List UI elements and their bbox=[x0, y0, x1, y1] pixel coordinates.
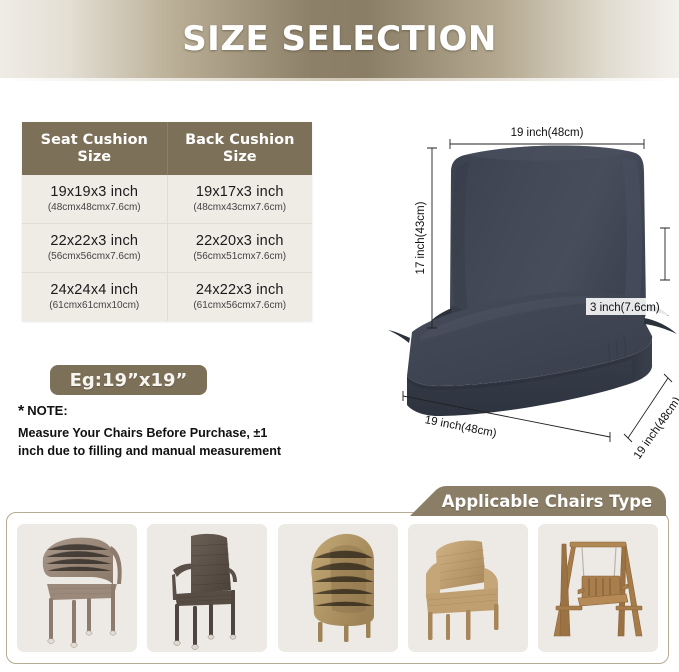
seat-size-inches: 22x22x3 inch bbox=[26, 233, 163, 249]
seat-size-inches: 24x24x4 inch bbox=[26, 282, 163, 298]
applicable-chairs-banner: Applicable Chairs Type bbox=[410, 486, 666, 516]
chair-glyph bbox=[311, 534, 374, 642]
column-header-seat-cushion-size: Seat Cushion Size bbox=[22, 122, 167, 175]
seat-size-cm: (61cmx61cmx10cm) bbox=[26, 300, 163, 311]
asterisk-icon: * bbox=[18, 403, 24, 420]
page-title: SIZE SELECTION bbox=[182, 19, 497, 59]
seat-size-cell: 22x22x3 inch (56cmx56cmx7.6cm) bbox=[22, 224, 167, 273]
seat-width-label: 19 inch(48cm) bbox=[424, 414, 498, 440]
back-width-label: 19 inch(48cm) bbox=[511, 127, 584, 139]
cushion-dimension-diagram: 19 inch(48cm) 17 inch(43cm) 3 inch(7.6cm… bbox=[260, 100, 679, 480]
chair-glyph bbox=[43, 538, 122, 648]
page-header: SIZE SELECTION bbox=[0, 0, 679, 78]
header-divider bbox=[0, 78, 679, 81]
seat-size-cell: 24x24x4 inch (61cmx61cmx10cm) bbox=[22, 273, 167, 322]
chair-thumbnail-stackable-round-back-rattan-chair[interactable] bbox=[17, 524, 137, 652]
thickness-label: 3 inch(7.6cm) bbox=[590, 302, 660, 314]
note-heading-label: NOTE: bbox=[27, 403, 67, 418]
seat-size-inches: 19x19x3 inch bbox=[26, 184, 163, 200]
applicable-chairs-banner-label: Applicable Chairs Type bbox=[410, 486, 666, 516]
seat-size-cm: (48cmx48cmx7.6cm) bbox=[26, 202, 163, 213]
seat-size-cell: 19x19x3 inch (48cmx48cmx7.6cm) bbox=[22, 175, 167, 224]
note-block: *NOTE: Measure Your Chairs Before Purcha… bbox=[18, 403, 284, 460]
chair-glyph bbox=[554, 542, 642, 636]
chair-thumbnail-wooden-porch-swing[interactable] bbox=[538, 524, 658, 652]
chair-thumbnail-barrel-wicker-tub-chair[interactable] bbox=[278, 524, 398, 652]
note-heading: *NOTE: bbox=[18, 403, 284, 421]
chair-thumbnail-high-back-woven-armchair[interactable] bbox=[147, 524, 267, 652]
seat-cushion-tie-left bbox=[388, 330, 410, 343]
applicable-chairs-panel bbox=[6, 512, 669, 664]
chair-glyph bbox=[172, 534, 237, 650]
example-size-badge: Eg:19”x19” bbox=[50, 365, 207, 395]
seat-depth-label: 19 inch(48cm) bbox=[632, 395, 679, 462]
thickness-label-group: 3 inch(7.6cm) bbox=[586, 298, 678, 315]
chair-glyph bbox=[426, 540, 499, 640]
note-body: Measure Your Chairs Before Purchase, ±1 … bbox=[18, 424, 284, 461]
chair-thumbnail-wide-wicker-lounge-armchair[interactable] bbox=[408, 524, 528, 652]
back-height-label: 17 inch(43cm) bbox=[415, 201, 427, 274]
seat-size-cm: (56cmx56cmx7.6cm) bbox=[26, 251, 163, 262]
